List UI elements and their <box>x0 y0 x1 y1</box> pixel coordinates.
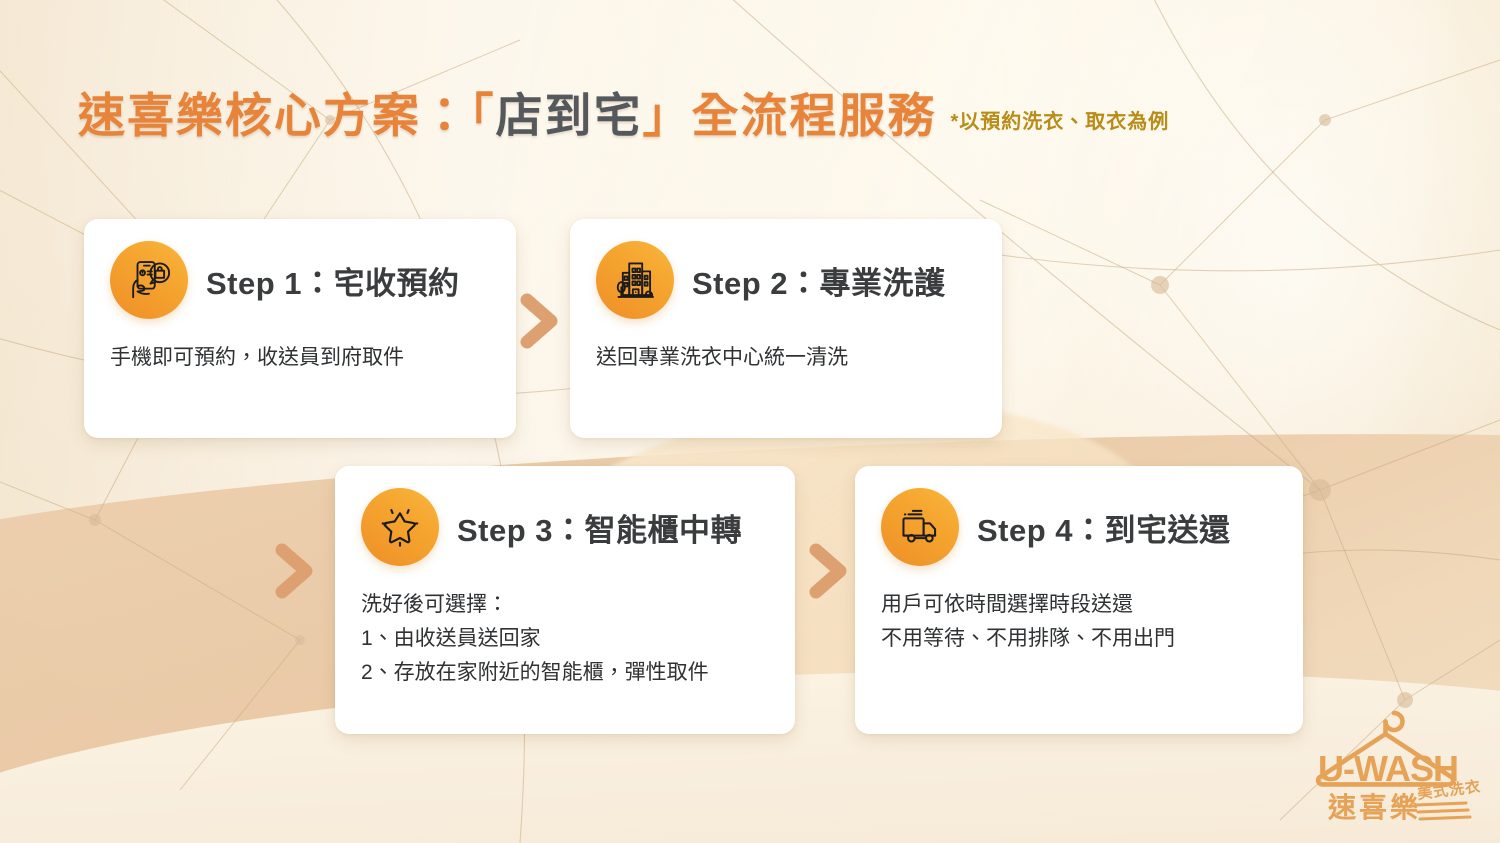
step-card-3-body: 洗好後可選擇： 1、由收送員送回家 2、存放在家附近的智能櫃，彈性取件 <box>361 588 769 690</box>
step-card-2-header: Step 2：專業洗護 <box>596 241 976 319</box>
title-text: 速喜樂核心方案：「店到宅」全流程服務 <box>78 92 937 139</box>
logo-brand-zh: 速喜樂 <box>1327 791 1421 823</box>
step-card-3-header: Step 3：智能櫃中轉 <box>361 488 769 566</box>
phone-booking-icon <box>110 241 188 319</box>
star-locker-icon <box>361 488 439 566</box>
step-card-1-header: Step 1：宅收預約 <box>110 241 490 319</box>
step-card-1-title: Step 1：宅收預約 <box>206 258 460 303</box>
step-card-3-step-name: 智能櫃中轉 <box>585 513 743 548</box>
step-card-2-separator: ： <box>788 266 820 301</box>
step-card-1-step-name: 宅收預約 <box>334 266 460 301</box>
step-card-3-body-line-2: 1、由收送員送回家 <box>361 622 769 656</box>
title-part-one: 速喜樂核心方案： <box>78 89 470 142</box>
step-card-1[interactable]: Step 1：宅收預約 手機即可預約，收送員到府取件 <box>84 219 516 438</box>
title-footnote: *以預約洗衣、取衣為例 <box>951 105 1170 139</box>
step-card-4[interactable]: Step 4：到宅送還 用戶可依時間選擇時段送還 不用等待、不用排隊、不用出門 <box>855 466 1303 734</box>
laundry-building-icon <box>596 241 674 319</box>
step-card-2-step-name: 專業洗護 <box>820 266 946 301</box>
uwash-logo: U-WASH 速喜樂 美式洗衣 <box>1306 693 1482 825</box>
title-part-three: 全流程服務 <box>692 89 937 142</box>
step-card-2-body-line-1: 送回專業洗衣中心統一清洗 <box>596 341 976 375</box>
title-part-two: 店到宅 <box>496 89 643 142</box>
step-card-3-body-line-1: 洗好後可選擇： <box>361 588 769 622</box>
step-card-2-step-label: Step 2 <box>692 266 788 301</box>
arrow-step3-to-step4 <box>806 542 852 600</box>
hanger-icon: U-WASH 速喜樂 美式洗衣 <box>1306 693 1482 825</box>
step-card-4-body-line-1: 用戶可依時間選擇時段送還 <box>881 588 1277 622</box>
step-card-4-title: Step 4：到宅送還 <box>977 505 1231 550</box>
step-card-1-step-label: Step 1 <box>206 266 302 301</box>
step-card-4-body-line-2: 不用等待、不用排隊、不用出門 <box>881 622 1277 656</box>
slide-title: 速喜樂核心方案：「店到宅」全流程服務 *以預約洗衣、取衣為例 <box>78 92 1169 139</box>
arrow-step2-to-step3 <box>272 542 318 600</box>
step-card-2-body: 送回專業洗衣中心統一清洗 <box>596 341 976 375</box>
step-card-3-separator: ： <box>553 513 585 548</box>
step-card-4-step-label: Step 4 <box>977 513 1073 548</box>
step-card-3[interactable]: Step 3：智能櫃中轉 洗好後可選擇： 1、由收送員送回家 2、存放在家附近的… <box>335 466 795 734</box>
step-card-1-body: 手機即可預約，收送員到府取件 <box>110 341 490 375</box>
logo-underline <box>1416 803 1470 819</box>
title-bracket-close: 」 <box>643 89 692 142</box>
step-card-3-step-label: Step 3 <box>457 513 553 548</box>
step-card-2-title: Step 2：專業洗護 <box>692 258 946 303</box>
step-card-4-separator: ： <box>1073 513 1105 548</box>
delivery-truck-icon <box>881 488 959 566</box>
step-card-4-header: Step 4：到宅送還 <box>881 488 1277 566</box>
slide-root: 速喜樂核心方案：「店到宅」全流程服務 *以預約洗衣、取衣為例 <box>0 0 1500 843</box>
step-card-1-body-line-1: 手機即可預約，收送員到府取件 <box>110 341 490 375</box>
step-card-3-body-line-3: 2、存放在家附近的智能櫃，彈性取件 <box>361 656 769 690</box>
step-card-1-separator: ： <box>302 266 334 301</box>
step-card-4-step-name: 到宅送還 <box>1105 513 1231 548</box>
arrow-step1-to-step2 <box>517 292 563 350</box>
title-bracket-open: 「 <box>470 89 496 142</box>
step-card-4-body: 用戶可依時間選擇時段送還 不用等待、不用排隊、不用出門 <box>881 588 1277 656</box>
step-card-3-title: Step 3：智能櫃中轉 <box>457 505 742 550</box>
step-card-2[interactable]: Step 2：專業洗護 送回專業洗衣中心統一清洗 <box>570 219 1002 438</box>
